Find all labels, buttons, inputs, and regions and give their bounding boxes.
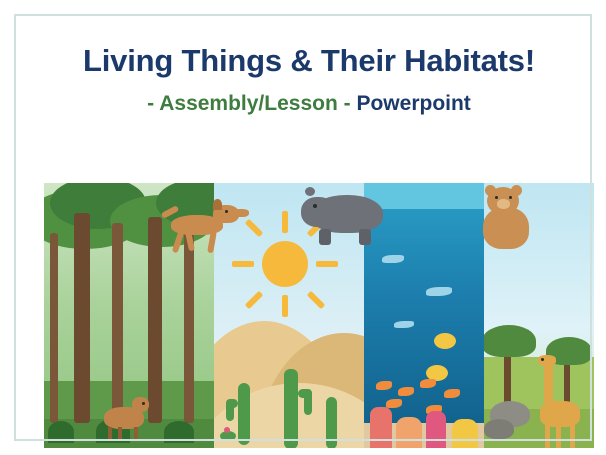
bear-snout	[497, 199, 510, 209]
giraffe-leg	[545, 425, 550, 451]
hippo-leg	[359, 229, 371, 245]
dog-snout	[233, 209, 249, 217]
small-fish	[420, 379, 436, 388]
dog-leg	[172, 231, 185, 254]
sun-ray	[282, 211, 288, 233]
page-subtitle: - Assembly/Lesson - Powerpoint	[16, 92, 602, 115]
dog-eye	[225, 210, 228, 213]
giraffe	[536, 359, 586, 453]
deer	[96, 395, 156, 441]
giraffe-leg	[556, 425, 561, 451]
coral	[370, 407, 392, 453]
desert-flower	[224, 427, 230, 433]
giraffe-body	[540, 401, 580, 427]
coral	[452, 419, 478, 453]
tree-trunk	[74, 213, 90, 423]
deer-eye	[142, 402, 145, 405]
deer-leg	[118, 427, 122, 441]
cactus-arm	[226, 399, 234, 421]
shark-icon	[382, 255, 404, 263]
sun-ray	[282, 295, 288, 317]
bear-ear	[485, 185, 496, 196]
giraffe-leg	[570, 425, 575, 451]
dog-tail	[161, 205, 180, 219]
coral	[396, 417, 422, 453]
hippo-leg	[319, 229, 331, 245]
cactus	[238, 383, 250, 445]
subtitle-part-one: - Assembly/Lesson -	[147, 92, 350, 115]
deer-leg	[108, 427, 112, 441]
tree-trunk	[112, 223, 123, 423]
tree-trunk	[50, 233, 58, 423]
hippo-head	[301, 197, 335, 227]
small-fish	[444, 389, 460, 398]
shark-icon	[394, 321, 414, 328]
poster: Living Things & Their Habitats! - Assemb…	[0, 0, 606, 455]
cactus	[284, 369, 298, 449]
hippo-ear	[305, 187, 315, 196]
sun-ray	[316, 261, 338, 267]
sun-ray	[232, 261, 254, 267]
bear	[473, 185, 543, 253]
small-fish	[376, 381, 392, 390]
subtitle-part-two: Powerpoint	[356, 92, 470, 115]
deer-head	[132, 397, 149, 412]
dog	[161, 197, 253, 257]
fern-bush	[48, 421, 74, 443]
shark-icon	[426, 287, 452, 296]
acacia-canopy	[484, 325, 536, 357]
small-fish	[398, 387, 414, 396]
dog-ear	[213, 199, 222, 210]
cactus-arm	[304, 389, 312, 415]
bear-eye	[509, 196, 512, 199]
cactus	[326, 397, 337, 449]
poster-header: Living Things & Their Habitats! - Assemb…	[16, 16, 602, 183]
bear-eye	[495, 196, 498, 199]
small-fish	[386, 399, 402, 408]
fern-bush	[164, 421, 194, 443]
hippo-eye	[313, 204, 317, 208]
bear-ear	[511, 185, 522, 196]
giraffe-eye	[541, 358, 544, 361]
coral	[426, 411, 446, 453]
deer-leg	[134, 427, 138, 441]
page-title: Living Things & Their Habitats!	[16, 44, 602, 78]
hippo	[297, 187, 393, 249]
rock	[484, 419, 514, 439]
tropical-fish	[434, 333, 456, 349]
tree-trunk	[148, 217, 162, 423]
